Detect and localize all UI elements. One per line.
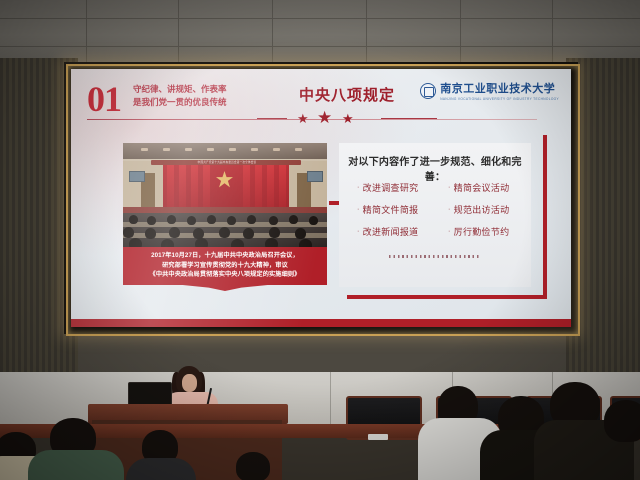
star-icon: ★ bbox=[317, 109, 332, 126]
audience-shirt bbox=[126, 458, 196, 480]
bullet-text: 规范出访活动 bbox=[454, 205, 510, 215]
panel-dotted-divider bbox=[389, 255, 481, 258]
slide-title: 中央八项规定 bbox=[267, 84, 427, 105]
caption-line1: 2017年10月27日，十九届中共中央政治局召开会议， bbox=[129, 251, 321, 261]
content-panel-heading: 对以下内容作了进一步规范、细化和完善： bbox=[339, 153, 531, 183]
slide-bottom-bar bbox=[71, 319, 571, 327]
bullet-marker: · bbox=[357, 228, 360, 235]
section-number: 01 bbox=[87, 81, 121, 117]
bullet-marker: · bbox=[448, 206, 451, 213]
university-seal-icon bbox=[420, 83, 436, 99]
university-name-cn: 南京工业职业技术大学 bbox=[440, 80, 559, 96]
bullet-marker: · bbox=[448, 184, 451, 191]
photo-hall-ceiling bbox=[123, 143, 327, 159]
university-name-en: NANJING VOCATIONAL UNIVERSITY OF INDUSTR… bbox=[440, 97, 559, 101]
name-plate bbox=[368, 434, 388, 440]
bullet-item: ·厉行勤俭节约 bbox=[448, 225, 533, 238]
photo-monitor bbox=[129, 171, 145, 182]
photo-banner-text: 中国共产党第十九届中央委员会第一次全体会议 bbox=[157, 160, 297, 165]
star-icon: ★ bbox=[342, 112, 354, 125]
caption-line3: 《中共中央政治局贯彻落实中央八项规定的实施细则》 bbox=[129, 270, 321, 280]
bullet-text: 精简文件简报 bbox=[363, 205, 419, 215]
bullet-item: ·改进新闻报道 bbox=[357, 225, 442, 238]
bullet-marker: · bbox=[448, 228, 451, 235]
section-subtitle-line1: 守纪律、讲规矩、作表率 bbox=[133, 83, 273, 96]
photo-audience bbox=[123, 213, 327, 248]
bullet-text: 厉行勤俭节约 bbox=[454, 227, 510, 237]
bullet-marker: · bbox=[357, 184, 360, 191]
bullet-item: ·改进调查研究 bbox=[357, 181, 442, 194]
bullet-text: 改进新闻报道 bbox=[363, 227, 419, 237]
content-bullet-grid: ·改进调查研究 ·精简会议活动 ·精简文件简报 ·规范出访活动 ·改进新闻报道 … bbox=[357, 181, 533, 238]
presenter-face bbox=[182, 374, 197, 392]
university-logo: 南京工业职业技术大学 NANJING VOCATIONAL UNIVERSITY… bbox=[420, 80, 559, 101]
star-line-left bbox=[257, 118, 287, 119]
slide-photo-block: 中国共产党第十九届中央委员会第一次全体会议 bbox=[123, 143, 327, 285]
lecture-hall-scene: 01 守纪律、讲规矩、作表率 是我们党一贯的优良传统 中央八项规定 ★ ★ ★ … bbox=[0, 0, 640, 480]
presentation-slide: 01 守纪律、讲规矩、作表率 是我们党一贯的优良传统 中央八项规定 ★ ★ ★ … bbox=[71, 69, 571, 327]
bullet-text: 精简会议活动 bbox=[454, 183, 510, 193]
audience-shirt bbox=[28, 450, 124, 480]
bullet-marker: · bbox=[357, 206, 360, 213]
bullet-item: ·规范出访活动 bbox=[448, 203, 533, 216]
photo-monitor bbox=[307, 171, 323, 182]
audience-head bbox=[604, 400, 640, 442]
university-name-block: 南京工业职业技术大学 NANJING VOCATIONAL UNIVERSITY… bbox=[440, 80, 559, 101]
caption-chevron bbox=[123, 279, 327, 291]
caption-line2: 研究部署学习宣传贯彻党的十九大精神，审议 bbox=[129, 261, 321, 271]
bullet-text: 改进调查研究 bbox=[363, 183, 419, 193]
star-decoration: ★ ★ ★ bbox=[257, 109, 437, 127]
meeting-photo: 中国共产党第十九届中央委员会第一次全体会议 bbox=[123, 143, 327, 248]
section-subtitle-line2: 是我们党一贯的优良传统 bbox=[133, 96, 273, 109]
star-line-right bbox=[381, 118, 437, 119]
star-icon: ★ bbox=[297, 112, 309, 125]
section-subtitle: 守纪律、讲规矩、作表率 是我们党一贯的优良传统 bbox=[133, 83, 273, 109]
bullet-item: ·精简文件简报 bbox=[357, 203, 442, 216]
audience-head bbox=[236, 452, 270, 480]
bullet-item: ·精简会议活动 bbox=[448, 181, 533, 194]
